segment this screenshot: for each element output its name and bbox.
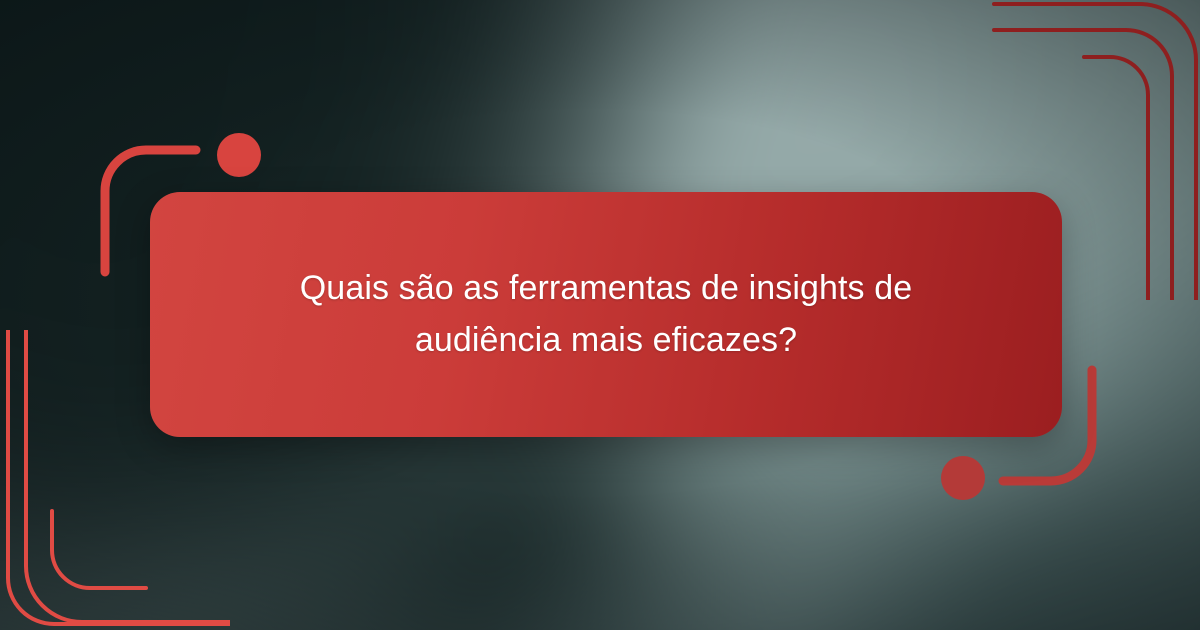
accent-dot-top-left-icon — [217, 133, 261, 177]
accent-dot-bottom-right-icon — [941, 456, 985, 500]
headline-text: Quais são as ferramentas de insights de … — [256, 263, 956, 366]
headline-card: Quais são as ferramentas de insights de … — [150, 192, 1062, 437]
poster-canvas: Quais são as ferramentas de insights de … — [0, 0, 1200, 630]
